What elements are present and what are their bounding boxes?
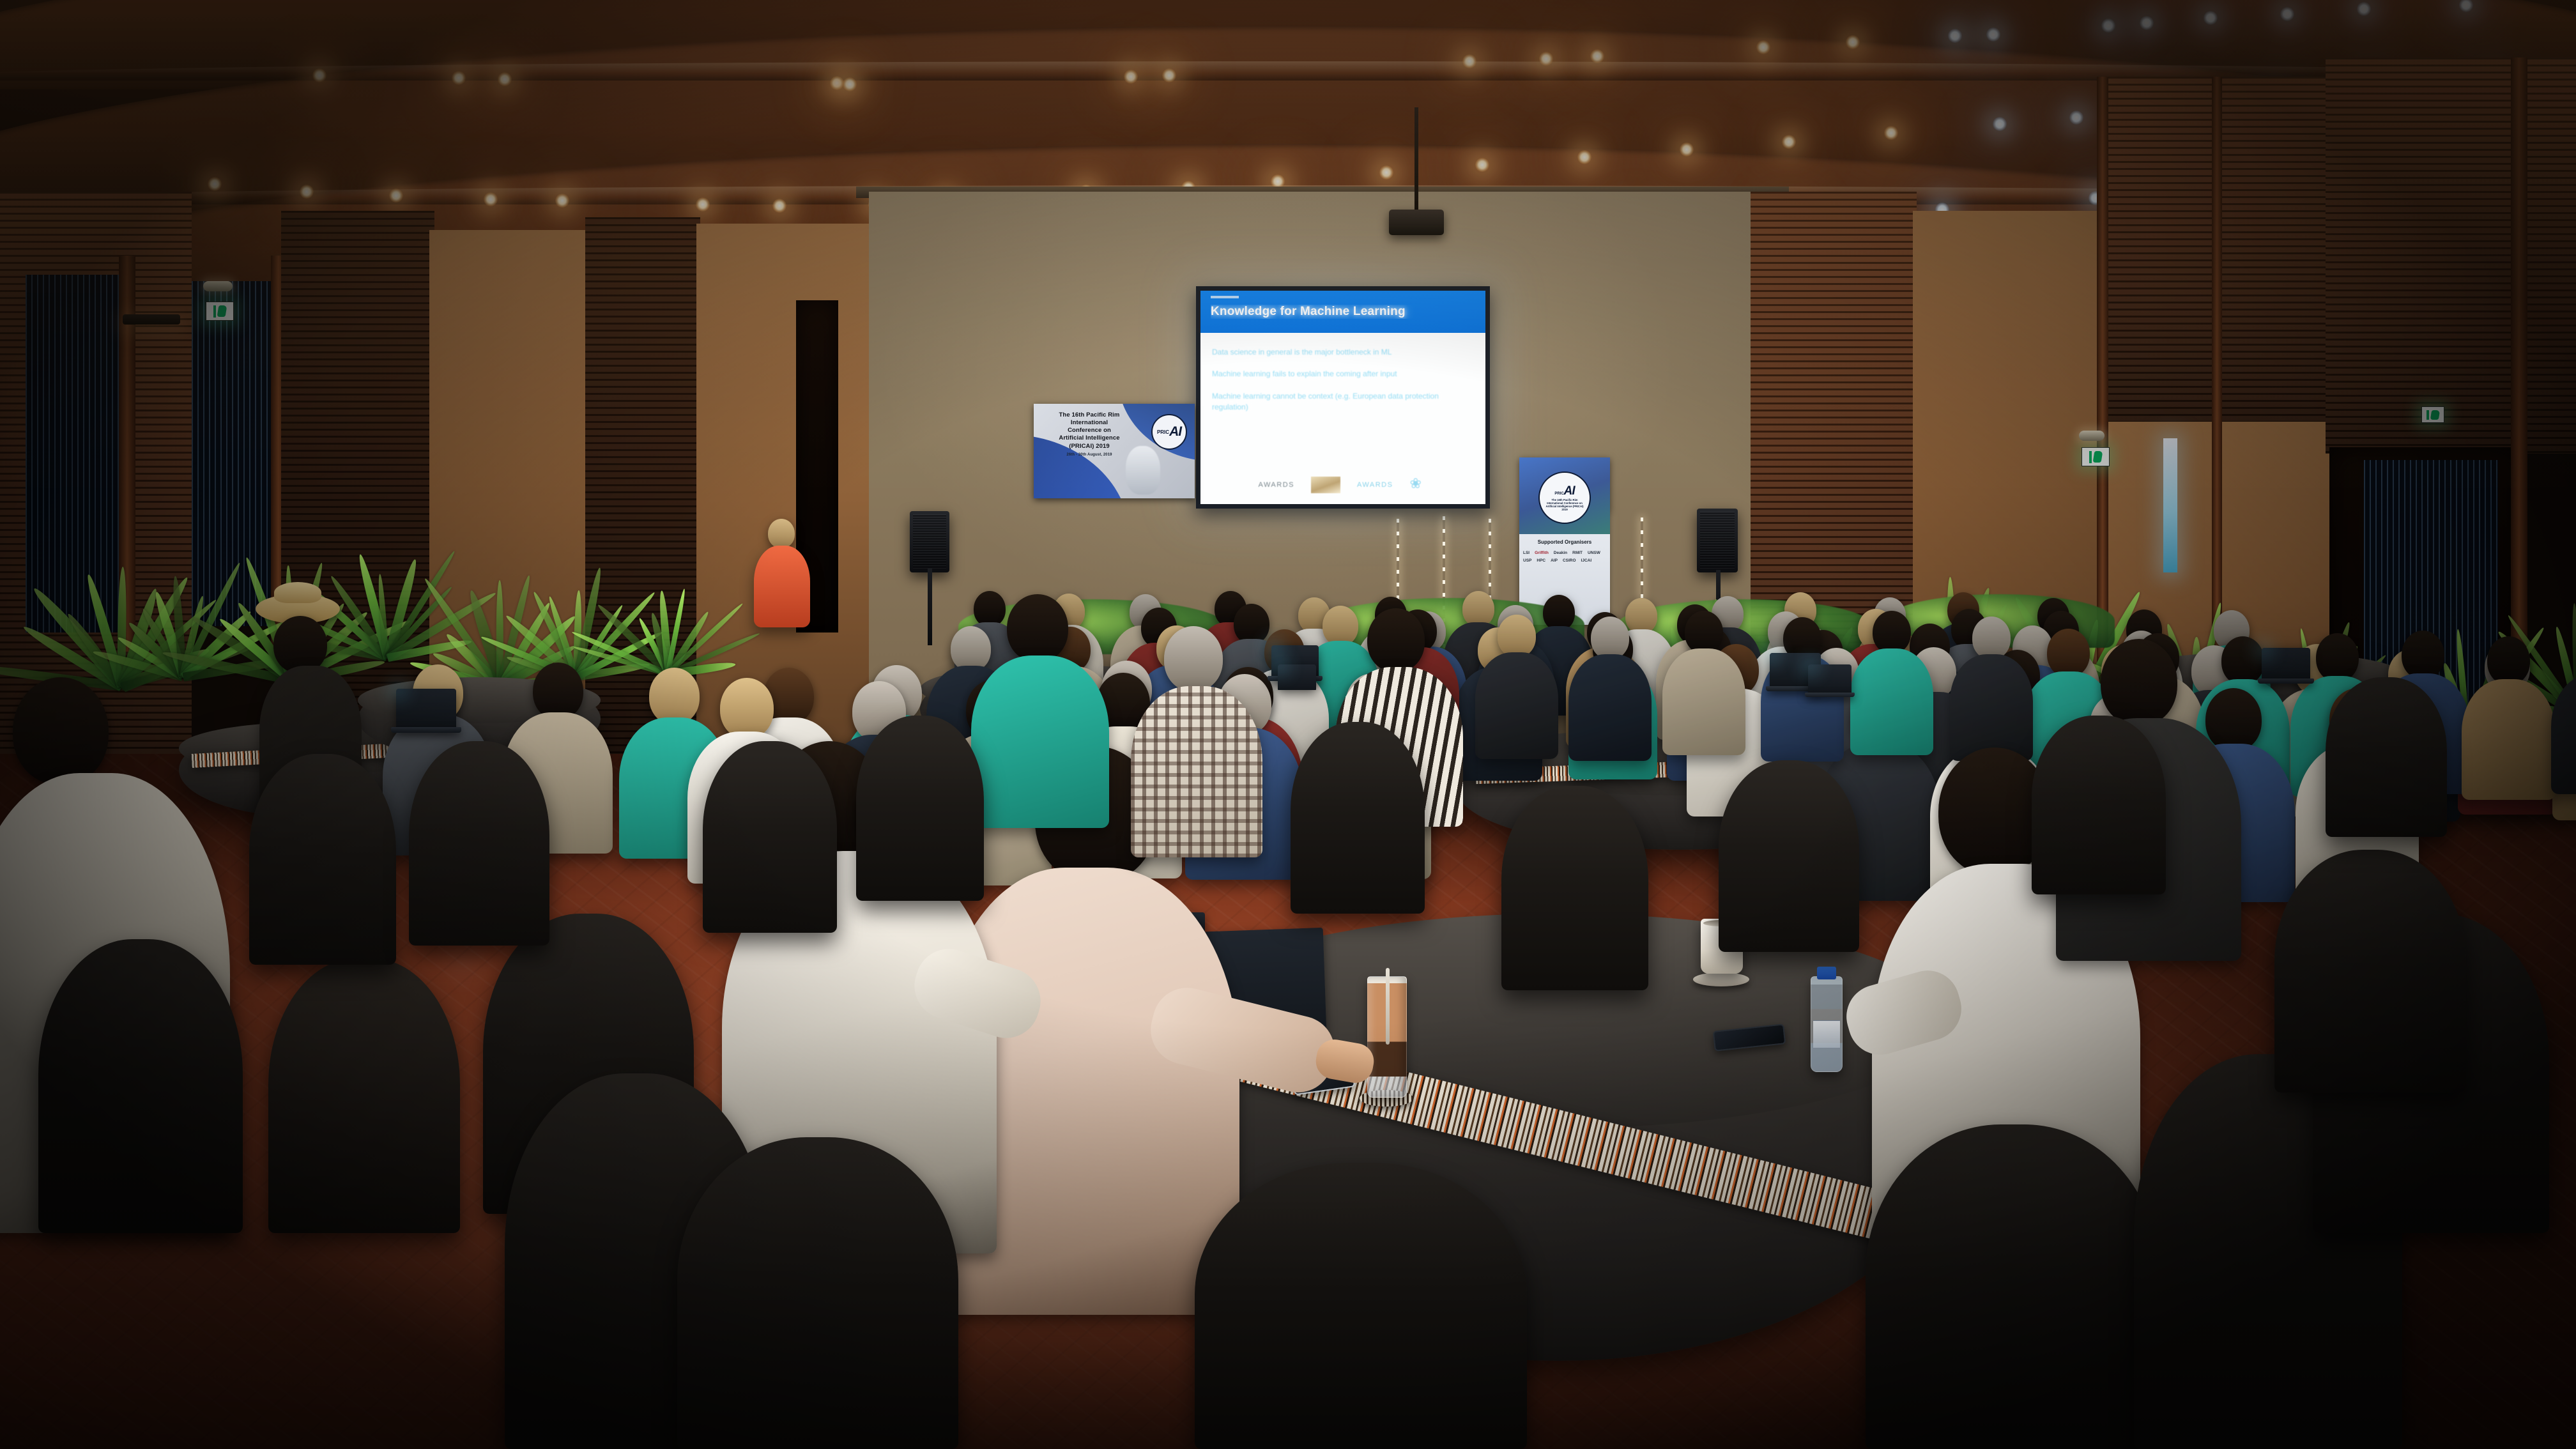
laptop-base bbox=[391, 727, 461, 733]
chair-foreground-center-1[interactable] bbox=[677, 1137, 958, 1449]
slide-bullet: Machine learning cannot be context (e.g.… bbox=[1212, 391, 1474, 413]
slide-footer-logos: AWARDS AWARDS ❀ bbox=[1200, 471, 1485, 499]
exit-icon-bar bbox=[2089, 451, 2092, 463]
head bbox=[1164, 626, 1223, 691]
slide-logo-swatch bbox=[1311, 477, 1340, 493]
slide-body: Data science in general is the major bot… bbox=[1200, 333, 1485, 504]
pricai-logo-mark: AI bbox=[1169, 424, 1181, 440]
projector-mount-rod bbox=[1414, 107, 1418, 212]
head bbox=[720, 678, 774, 739]
wall-uplight-left bbox=[123, 314, 180, 325]
slide-logo-awards-1: AWARDS bbox=[1259, 481, 1294, 489]
running-man-icon bbox=[2093, 451, 2103, 463]
torso bbox=[1475, 652, 1558, 759]
ceiling-downlight bbox=[2204, 11, 2218, 25]
sponsor-logo: USP bbox=[1523, 558, 1531, 563]
banner-dates: 26th - 30th August, 2019 bbox=[1041, 453, 1137, 458]
banner-line: (PRICAI) 2019 bbox=[1041, 443, 1137, 450]
head bbox=[13, 677, 109, 785]
torso bbox=[971, 655, 1109, 828]
conference-hall-photo: Knowledge for Machine Learning Data scie… bbox=[0, 0, 2576, 1449]
chair-mid-right-2[interactable] bbox=[1719, 760, 1859, 952]
head bbox=[2047, 629, 2090, 677]
head bbox=[2316, 633, 2359, 682]
sponsor-logo: LSI bbox=[1523, 551, 1529, 555]
ceiling-downlight bbox=[1756, 40, 1770, 54]
chair-foreground-left-2[interactable] bbox=[268, 958, 460, 1233]
slide-logo-awards-2: AWARDS bbox=[1357, 481, 1393, 489]
head bbox=[1498, 615, 1536, 657]
head bbox=[1873, 611, 1911, 654]
banner-line: The 16th Pacific Rim bbox=[1041, 411, 1137, 419]
torso bbox=[754, 546, 810, 627]
chair-mid-left-1[interactable] bbox=[249, 754, 396, 965]
ceiling-downlight bbox=[1986, 27, 2000, 42]
emergency-lamp-right bbox=[2079, 431, 2104, 441]
running-man-icon bbox=[217, 305, 227, 317]
chair-mid-right-3[interactable] bbox=[2032, 716, 2166, 894]
exit-icon-bar bbox=[213, 305, 216, 318]
head bbox=[2487, 636, 2530, 685]
head bbox=[533, 663, 583, 719]
pricai-logo-right: PRICAI The 16th Pacific Rim Internationa… bbox=[1538, 471, 1591, 524]
ceiling-downlight bbox=[2140, 16, 2154, 30]
banner-pricai-horizontal: The 16th Pacific Rim International Confe… bbox=[1034, 404, 1195, 498]
sponsor-logo: Griffith bbox=[1535, 551, 1549, 555]
chair-mid-center-1[interactable] bbox=[856, 716, 984, 901]
ceiling-downlight bbox=[1539, 52, 1553, 66]
exit-sign-right-far bbox=[2421, 406, 2444, 423]
bottle-cap bbox=[1817, 967, 1836, 979]
straw bbox=[1386, 968, 1390, 1045]
ceiling-downlight bbox=[2101, 19, 2115, 33]
head bbox=[1685, 611, 1723, 654]
laptop-lid bbox=[1278, 664, 1316, 690]
slide-title: Knowledge for Machine Learning bbox=[1211, 305, 1479, 319]
sponsor-logo: IJCAI bbox=[1581, 558, 1592, 563]
torso bbox=[1568, 654, 1652, 761]
sponsor-logo: UNSW bbox=[1588, 551, 1600, 555]
ceiling-downlight bbox=[1379, 165, 1393, 180]
head bbox=[1543, 595, 1575, 631]
head bbox=[1322, 606, 1358, 646]
head bbox=[1462, 591, 1494, 627]
chair-foreground-left-3[interactable] bbox=[38, 939, 243, 1233]
ceiling-downlight bbox=[2357, 2, 2371, 16]
ceiling-downlight bbox=[830, 76, 844, 90]
running-man-icon bbox=[2430, 410, 2440, 420]
laptop-base bbox=[1805, 693, 1855, 697]
exit-sign-right bbox=[2081, 447, 2110, 466]
exit-sign-left bbox=[206, 302, 234, 321]
slide-header-tick bbox=[1211, 296, 1239, 298]
iced-coffee-glass bbox=[1367, 976, 1407, 1098]
water-bottle bbox=[1811, 976, 1843, 1072]
torso bbox=[1662, 648, 1745, 755]
laptop-lid bbox=[396, 689, 456, 728]
pricai-logo-right-mark: PRICAI bbox=[1554, 484, 1574, 498]
slide-bullet: Data science in general is the major bot… bbox=[1212, 347, 1474, 358]
ceiling-downlight bbox=[555, 194, 569, 208]
sponsor-logo: Deakin bbox=[1554, 551, 1567, 555]
torso bbox=[1850, 648, 1933, 755]
ceiling-downlight bbox=[389, 188, 403, 203]
ceiling-downlight bbox=[1590, 49, 1604, 63]
head bbox=[2101, 639, 2177, 726]
laptop-lid bbox=[2262, 648, 2310, 680]
ceiling-downlight bbox=[1846, 35, 1860, 49]
slide-logo-bird-icon: ❀ bbox=[1409, 477, 1427, 493]
projection-screen: Knowledge for Machine Learning Data scie… bbox=[1196, 286, 1490, 509]
hat-crown bbox=[274, 582, 321, 603]
head bbox=[649, 668, 700, 724]
chair-mid-center-2[interactable] bbox=[1291, 722, 1425, 914]
sponsor-logo: HPC bbox=[1537, 558, 1545, 563]
ceiling-downlight bbox=[1577, 150, 1591, 164]
sponsor-logo: CSIRO bbox=[1563, 558, 1576, 563]
pricai-logo-left: PRICAI bbox=[1151, 414, 1187, 450]
ceiling-downlight bbox=[208, 177, 222, 191]
ceiling-downlight bbox=[1680, 142, 1694, 157]
ceiling-downlight bbox=[484, 192, 498, 206]
pricai-logo-mark: AI bbox=[1564, 484, 1575, 498]
slide-header: Knowledge for Machine Learning bbox=[1200, 291, 1485, 333]
slide-bullet: Machine learning fails to explain the co… bbox=[1212, 369, 1474, 379]
sponsor-logo: RMIT bbox=[1572, 551, 1583, 555]
banner-line: Conference on bbox=[1041, 427, 1137, 434]
banner-text-block: The 16th Pacific Rim International Confe… bbox=[1041, 411, 1137, 457]
pa-speaker-stand-left bbox=[928, 569, 932, 645]
head bbox=[951, 626, 991, 671]
ceiling-downlight bbox=[1948, 29, 1962, 43]
head bbox=[1234, 604, 1269, 644]
ceiling-projector bbox=[1389, 210, 1444, 235]
ceiling-downlight bbox=[1462, 54, 1476, 68]
head bbox=[1367, 608, 1425, 672]
ceiling-downlight bbox=[452, 71, 466, 85]
sponsor-logo: AIP bbox=[1551, 558, 1558, 563]
ceiling-downlight bbox=[772, 199, 786, 213]
head bbox=[2205, 688, 2262, 751]
bottle-label bbox=[1813, 1020, 1840, 1048]
pricai-logo-caption: The 16th Pacific Rim International Confe… bbox=[1540, 498, 1590, 512]
ceiling-downlight bbox=[696, 197, 710, 211]
ceiling-downlight bbox=[1884, 126, 1898, 140]
head bbox=[768, 519, 795, 548]
head bbox=[2402, 631, 2444, 679]
head bbox=[1625, 598, 1657, 634]
chair-foreground-right-4[interactable] bbox=[2274, 850, 2466, 1092]
slide: Knowledge for Machine Learning Data scie… bbox=[1200, 291, 1485, 504]
mug-saucer bbox=[1693, 972, 1749, 986]
laptop-lid bbox=[1808, 664, 1851, 694]
chair-far-right-1[interactable] bbox=[2326, 677, 2447, 837]
ceiling-downlight bbox=[2069, 111, 2083, 125]
exit-icon-bar bbox=[2426, 410, 2429, 420]
ceiling-downlight bbox=[1475, 158, 1489, 172]
ceiling-downlight bbox=[1782, 135, 1796, 149]
ceiling-downlight bbox=[1993, 117, 2007, 131]
torso bbox=[1950, 654, 2033, 761]
banner-line: Artificial Intelligence bbox=[1041, 434, 1137, 442]
chair-mid-left-2[interactable] bbox=[409, 741, 549, 946]
pricai-logo-prefix: PRIC bbox=[1554, 492, 1563, 496]
ceiling-downlight bbox=[312, 68, 326, 82]
chair-mid-left-3[interactable] bbox=[703, 741, 837, 933]
emergency-lamp-left bbox=[203, 281, 233, 291]
laptop-base bbox=[2258, 678, 2314, 684]
head bbox=[1591, 617, 1629, 659]
head bbox=[1007, 594, 1068, 662]
ceiling-downlight bbox=[2280, 7, 2294, 21]
head bbox=[2221, 636, 2264, 685]
ceiling-downlight bbox=[1124, 70, 1138, 84]
chair-foreground-right-1[interactable] bbox=[1866, 1124, 2159, 1449]
torso bbox=[2462, 679, 2556, 800]
head bbox=[1972, 617, 2011, 659]
banner-line: International bbox=[1041, 419, 1137, 427]
palm-plant bbox=[594, 511, 735, 674]
wood-louvre-right-far bbox=[2326, 57, 2576, 454]
ceiling-downlight bbox=[843, 77, 857, 91]
sponsor-logo-list: LSI Griffith Deakin RMIT UNSW USP HPC AI… bbox=[1523, 551, 1606, 563]
head bbox=[974, 591, 1006, 627]
head bbox=[273, 616, 327, 673]
ceiling-downlight bbox=[1162, 68, 1176, 82]
chair-mid-right-1[interactable] bbox=[1501, 786, 1648, 990]
pricai-logo-prefix: PRIC bbox=[1157, 429, 1169, 435]
supported-organisers-title: Supported Organisers bbox=[1519, 539, 1610, 545]
ceiling-downlight bbox=[300, 185, 314, 199]
pa-speaker-left bbox=[910, 511, 949, 572]
torso-plaid bbox=[1131, 686, 1262, 857]
ceiling-downlight bbox=[498, 72, 512, 86]
chair-foreground-center-2[interactable] bbox=[1195, 1163, 1527, 1449]
